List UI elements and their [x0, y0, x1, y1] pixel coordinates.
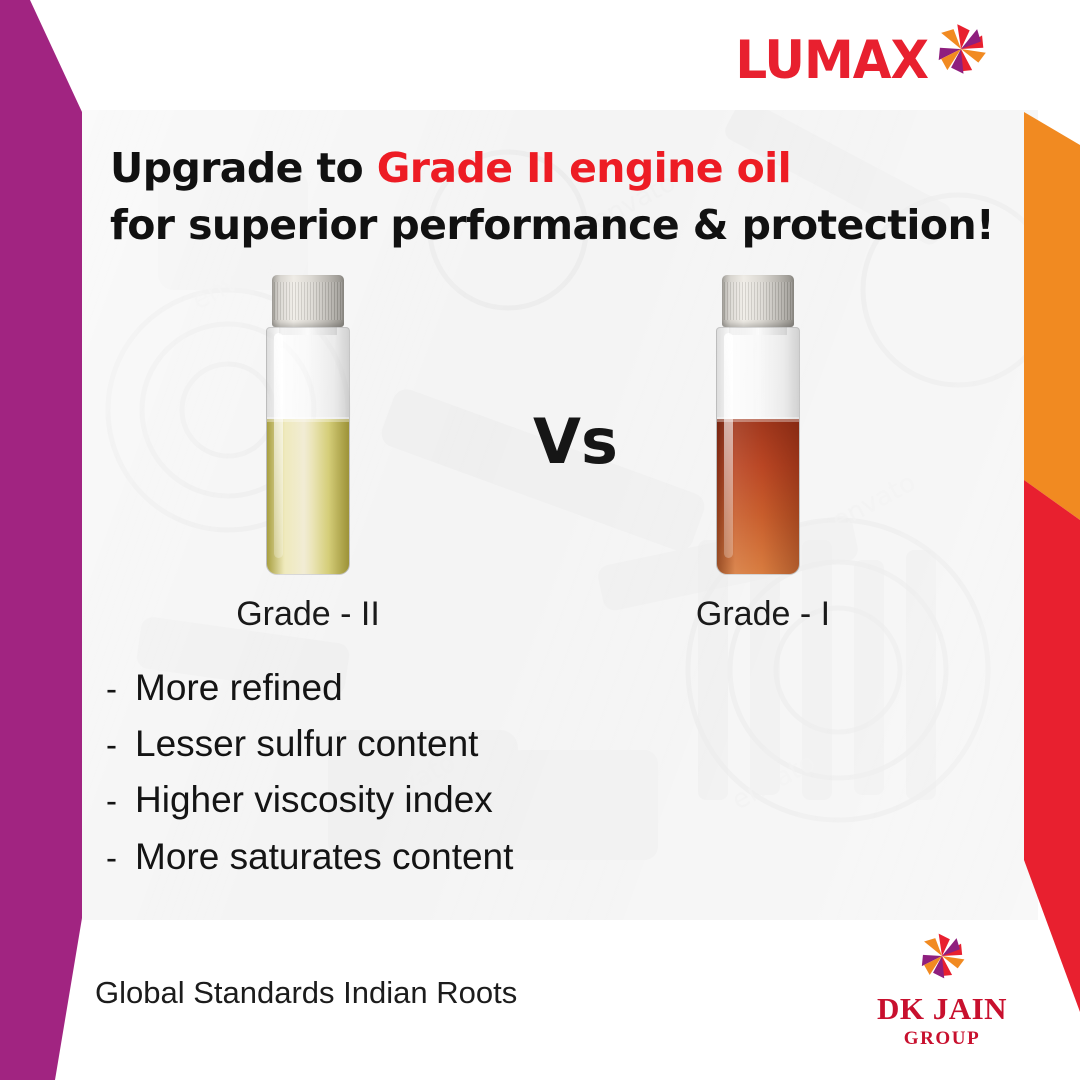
dk-jain-group-logo: DK JAIN GROUP: [866, 928, 1018, 1050]
list-item-label: More saturates content: [135, 829, 513, 885]
header: LUMAX: [0, 0, 1080, 112]
list-item: - Lesser sulfur content: [106, 716, 513, 772]
lumax-logo: LUMAX: [735, 18, 992, 85]
headline-highlight: Grade II engine oil: [377, 144, 791, 192]
bullet-marker: -: [106, 664, 117, 714]
grade-2-vial: [258, 275, 358, 575]
glass-highlight: [274, 333, 283, 558]
list-item: - More saturates content: [106, 829, 513, 885]
pinwheel-star-icon: [930, 18, 992, 85]
bullet-marker: -: [106, 720, 117, 770]
bullet-marker: -: [106, 776, 117, 826]
headline-line-2: for superior performance & protection!: [110, 197, 1010, 254]
list-item-label: Lesser sulfur content: [135, 716, 478, 772]
vs-label: Vs: [533, 405, 618, 478]
grade-2-label: Grade - II: [208, 595, 408, 634]
left-magenta-accent-shape: [0, 0, 82, 1080]
lumax-wordmark: LUMAX: [735, 34, 928, 87]
vial-cap-icon: [722, 275, 794, 327]
benefits-list: - More refined - Lesser sulfur content -…: [106, 660, 513, 885]
headline-line-1: Upgrade to Grade II engine oil: [110, 140, 1010, 197]
list-item: - Higher viscosity index: [106, 772, 513, 828]
list-item: - More refined: [106, 660, 513, 716]
bullet-marker: -: [106, 833, 117, 883]
pinwheel-star-icon: [866, 928, 1018, 989]
headline-prefix: Upgrade to: [110, 144, 377, 192]
vial-cap-icon: [272, 275, 344, 327]
dk-jain-subtitle: GROUP: [866, 1028, 1018, 1050]
list-item-label: More refined: [135, 660, 343, 716]
list-item-label: Higher viscosity index: [135, 772, 493, 828]
page-title: Upgrade to Grade II engine oil for super…: [110, 140, 1010, 253]
grade-1-label: Grade - I: [663, 595, 863, 634]
glass-highlight: [724, 333, 733, 558]
grade-1-vial: [708, 275, 808, 575]
dk-jain-name: DK JAIN: [866, 992, 1018, 1026]
tagline: Global Standards Indian Roots: [95, 975, 517, 1011]
content-panel: envato envato envato envato envato Upgra…: [78, 110, 1038, 920]
